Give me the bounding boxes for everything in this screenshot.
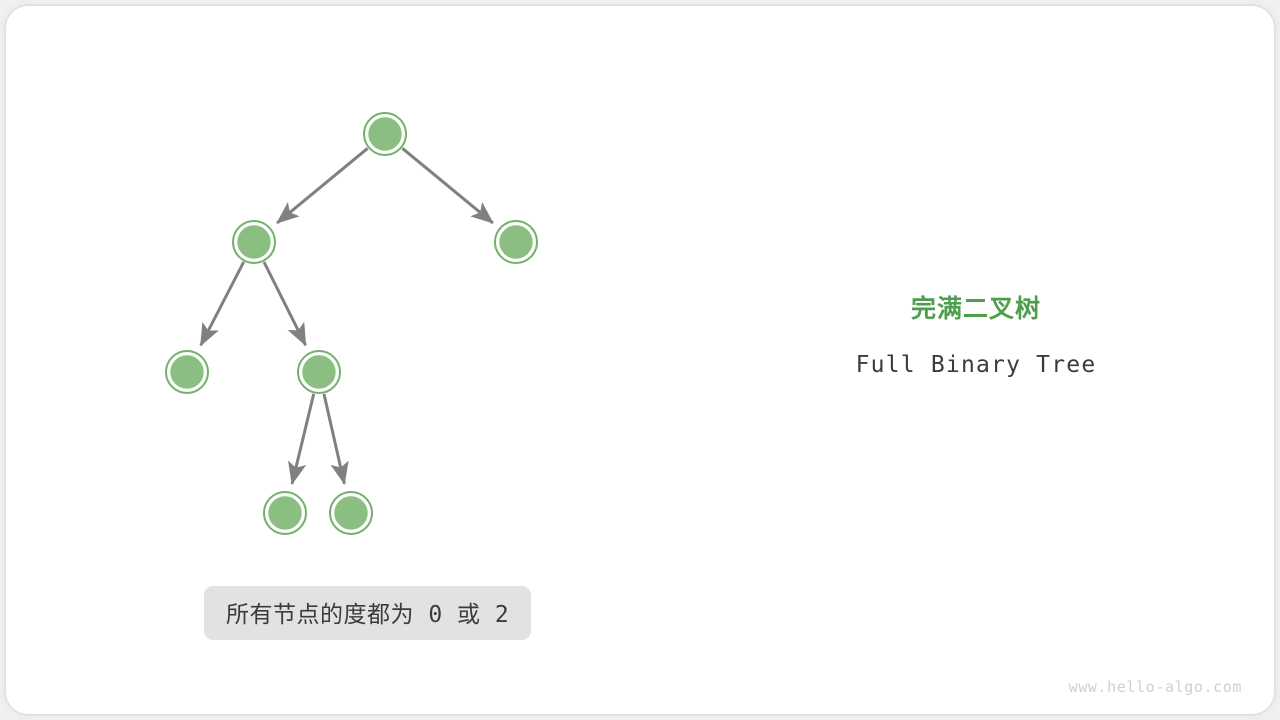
node-circle [368, 117, 403, 152]
title-english: Full Binary Tree [766, 352, 1186, 378]
tree-node [166, 351, 208, 393]
tree-node [330, 492, 372, 534]
tree-edge [277, 148, 367, 223]
node-circle [268, 496, 303, 531]
tree-edges [201, 148, 493, 484]
tree-node [233, 221, 275, 263]
node-circle [170, 355, 205, 390]
node-circle [334, 496, 369, 531]
node-circle [237, 225, 272, 260]
tree-type-label: 完满二叉树 Full Binary Tree [766, 294, 1186, 378]
tree-edge [201, 262, 244, 345]
tree-nodes [166, 113, 537, 534]
tree-node [364, 113, 406, 155]
node-circle [302, 355, 337, 390]
tree-edge [402, 148, 492, 223]
node-circle [499, 225, 534, 260]
tree-edge [292, 394, 314, 484]
page-root: 完满二叉树 Full Binary Tree 所有节点的度都为 0 或 2 ww… [0, 0, 1280, 720]
tree-edge [324, 394, 344, 484]
tree-node [495, 221, 537, 263]
watermark-url: www.hello-algo.com [1069, 678, 1242, 696]
tree-edge [264, 262, 306, 345]
caption-badge: 所有节点的度都为 0 或 2 [204, 586, 531, 640]
tree-node [298, 351, 340, 393]
title-chinese: 完满二叉树 [766, 294, 1186, 324]
diagram-card: 完满二叉树 Full Binary Tree 所有节点的度都为 0 或 2 ww… [6, 6, 1274, 714]
tree-node [264, 492, 306, 534]
